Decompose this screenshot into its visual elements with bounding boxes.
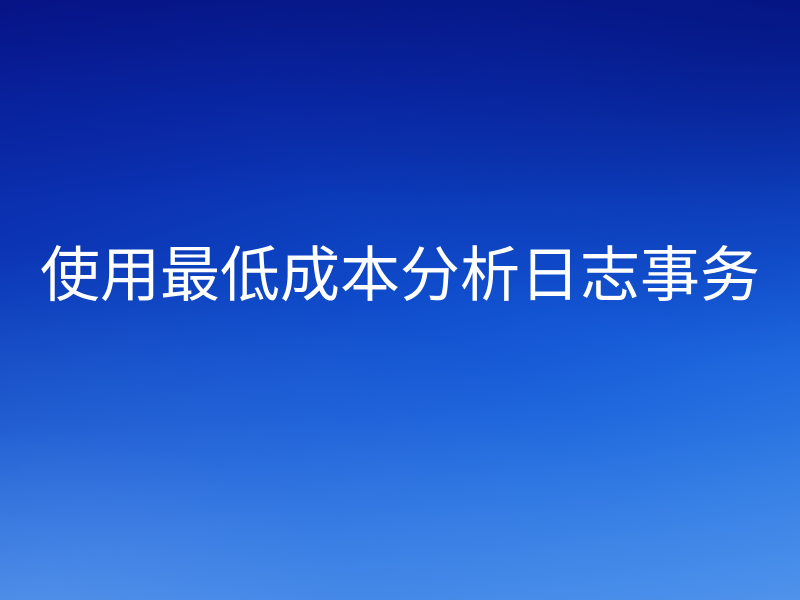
banner-canvas: 使用最低成本分析日志事务: [0, 0, 800, 600]
banner-headline: 使用最低成本分析日志事务: [40, 243, 770, 309]
